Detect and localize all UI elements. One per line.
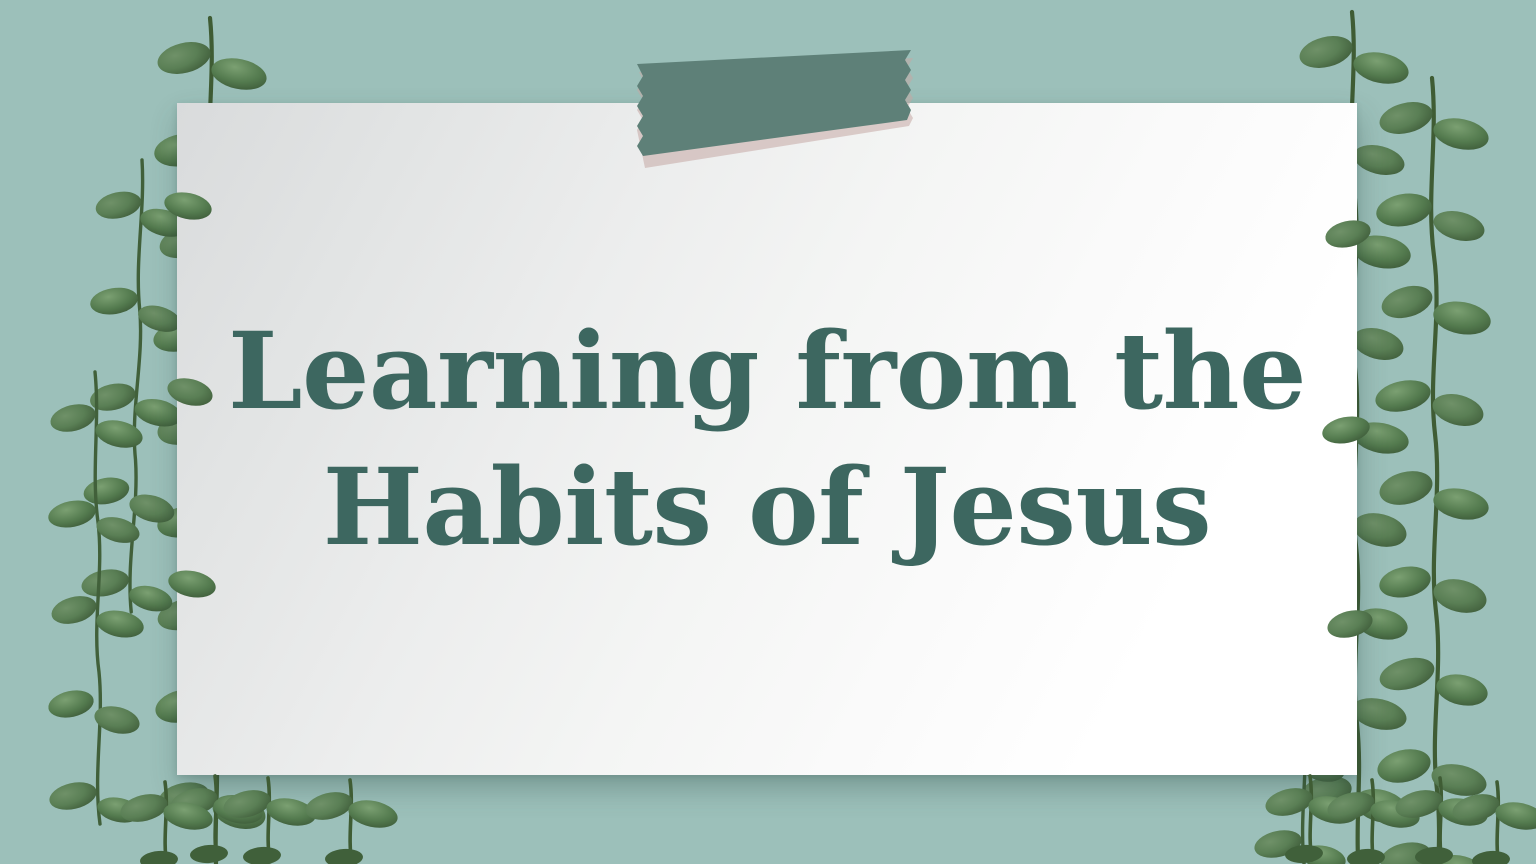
washi-tape [623,34,933,169]
vine-tail-right-b [1325,780,1423,864]
vine-tail-left-b [118,782,216,864]
vine-right-secondary [1372,78,1493,864]
title-line-2: Habits of Jesus [323,439,1211,575]
vine-tail-right-c [1393,778,1491,864]
vine-tail-left-d [303,780,401,864]
vine-tail-left-c [221,778,319,864]
presentation-slide: Learning from the Habits of Jesus [0,0,1536,864]
vine-left-tertiary [46,372,146,826]
vine-tail-right-d [1450,782,1536,864]
page-title: Learning from the Habits of Jesus [177,103,1357,775]
vine-left-secondary [77,158,193,616]
vine-tail-right-a [1263,776,1361,864]
title-line-1: Learning from the [228,303,1306,439]
vine-tail-left-a [168,776,266,864]
